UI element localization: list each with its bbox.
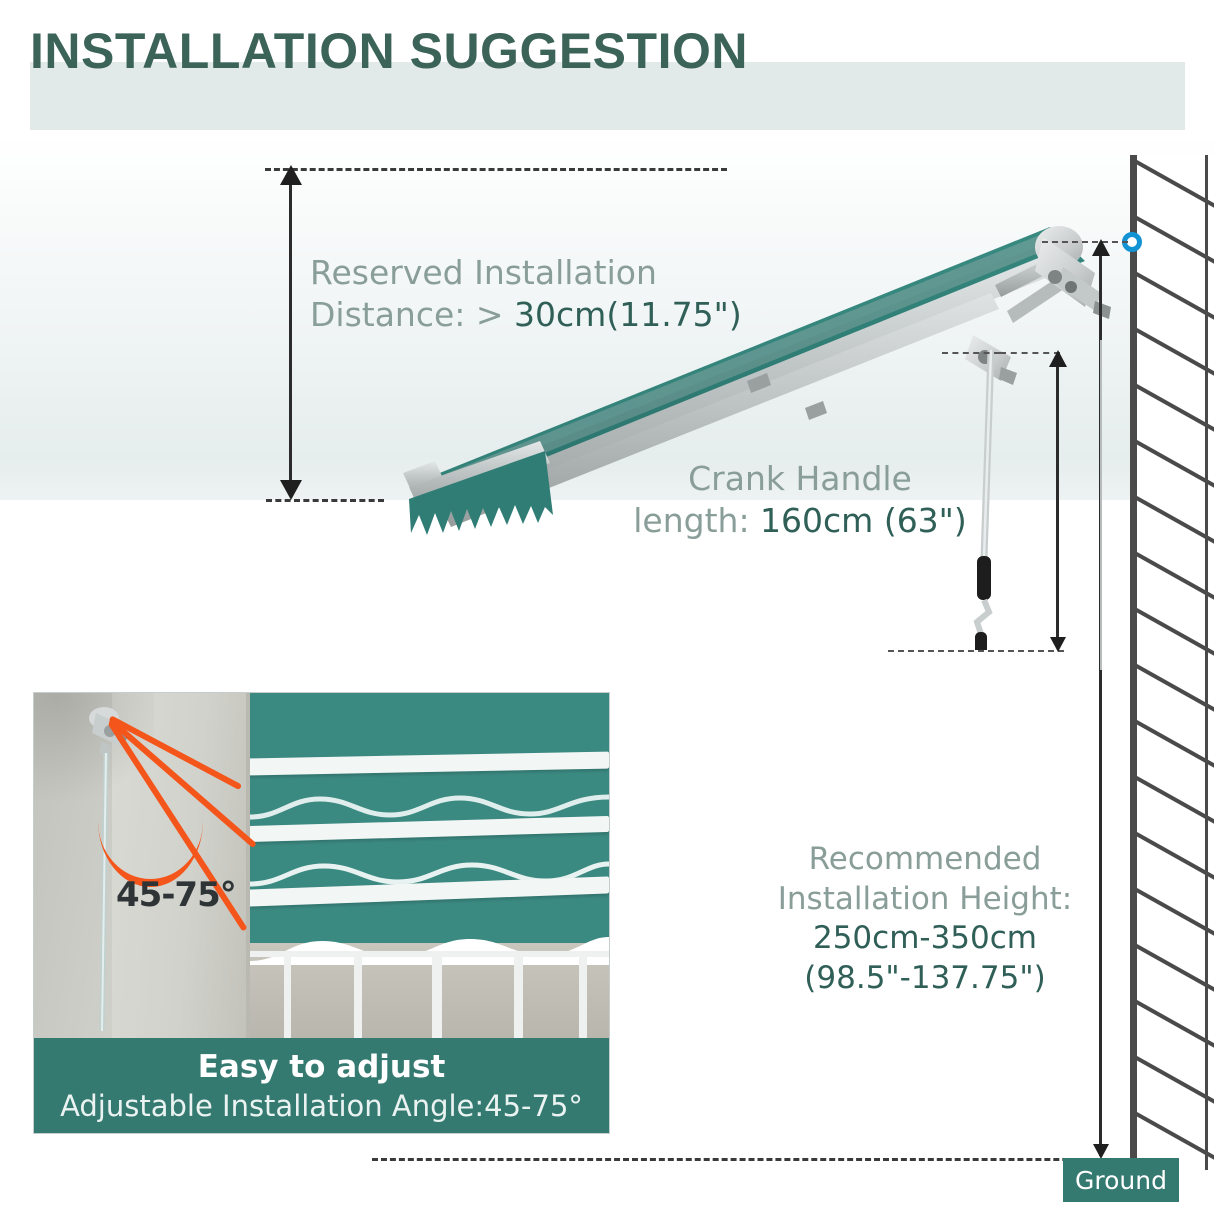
reserved-dimension-line — [289, 180, 292, 480]
angle-label: 45-75° — [116, 875, 236, 915]
recommended-height-line2: Installation Height: — [760, 880, 1090, 920]
crank-dimension-line — [1056, 360, 1059, 644]
inset-photo: 45-75° — [34, 693, 609, 1038]
reserved-distance-value: 30cm(11.75") — [514, 295, 742, 334]
recommended-height-line4: (98.5"-137.75") — [760, 959, 1090, 999]
wall-hatching — [1134, 155, 1214, 1170]
crank-handle-line1: Crank Handle — [600, 458, 1000, 500]
wall-inner-line — [1205, 155, 1208, 1170]
height-arrow-down — [1093, 1144, 1109, 1159]
inset-caption-sub: Adjustable Installation Angle:45-75° — [60, 1089, 583, 1123]
ground-dashed-line — [372, 1158, 1140, 1161]
height-arrow-up — [1092, 239, 1110, 256]
inset-caption-main: Easy to adjust — [198, 1049, 446, 1085]
crank-handle-callout: Crank Handle length: 160cm (63") — [600, 458, 1000, 542]
door-mullion-1 — [284, 951, 291, 1038]
door-mullion-5 — [579, 951, 587, 1038]
door-mullion-3 — [432, 951, 442, 1038]
reserved-top-dashed-line — [265, 168, 727, 171]
reserved-arrow-up — [280, 165, 302, 185]
door-mullion-2 — [354, 951, 362, 1038]
crank-handle-value: 160cm (63") — [760, 501, 967, 540]
crank-arrow-down — [1050, 637, 1066, 652]
reserved-distance-callout: Reserved Installation Distance: > 30cm(1… — [310, 252, 780, 336]
wall-edge-line — [1130, 155, 1137, 1170]
recommended-height-callout: Recommended Installation Height: 250cm-3… — [760, 840, 1090, 999]
inset-caption-band: Easy to adjust Adjustable Installation A… — [34, 1038, 609, 1133]
awning-valance-scallop — [250, 929, 609, 965]
height-top-dashed-line — [1042, 241, 1128, 243]
wall-hatch-svg — [1134, 155, 1214, 1170]
concrete-wall-edge — [246, 693, 250, 1038]
reserved-arrow-down — [280, 480, 302, 500]
door-mullion-4 — [514, 951, 523, 1038]
adjustable-angle-inset: 45-75° Easy to adjust Adjustable Install… — [33, 692, 610, 1134]
recommended-height-line1: Recommended — [760, 840, 1090, 880]
ground-label: Ground — [1063, 1158, 1179, 1202]
reserved-distance-label: Distance: > — [310, 295, 514, 334]
crank-handle-label: length: — [633, 501, 760, 540]
bracket-dashed-line — [942, 352, 1000, 354]
crank-handle-line2: length: 160cm (63") — [600, 500, 1000, 542]
vertical-guide-line — [1100, 340, 1102, 670]
reserved-distance-line2: Distance: > 30cm(11.75") — [310, 294, 780, 336]
door-header — [250, 951, 609, 957]
crank-arrow-up — [1049, 350, 1067, 367]
reserved-distance-line1: Reserved Installation — [310, 252, 780, 294]
crank-bottom-dashed-line — [888, 650, 1064, 652]
recommended-height-line3: 250cm-350cm — [760, 919, 1090, 959]
page-title: INSTALLATION SUGGESTION — [30, 22, 930, 80]
